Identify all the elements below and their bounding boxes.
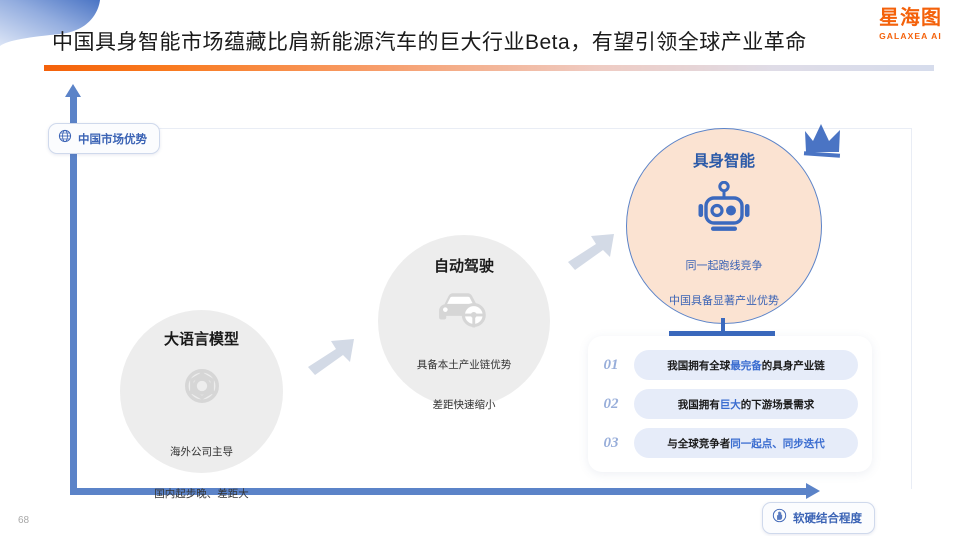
point-pill[interactable]: 与全球竞争者 同一起点、同步迭代 [634,428,858,458]
point-text-post: 的具身产业链 [762,358,825,373]
point-text-pre: 我国拥有 [678,397,720,412]
page-number: 68 [18,515,29,526]
list-item[interactable]: 01 我国拥有全球 最完备 的具身产业链 [588,346,872,384]
y-axis-arrowhead-icon [65,84,81,97]
point-text-highlight: 最完备 [730,358,762,373]
openai-logo-icon [175,359,229,418]
bubble-large-language-model[interactable]: 大语言模型 海外公司主导 国内起步晚、差距大 [120,310,283,473]
car-steering-icon [432,286,496,333]
slide-canvas: 中国具身智能市场蕴藏比肩新能源汽车的巨大行业Beta，有望引领全球产业革命 星海… [0,0,956,536]
title-underline-rule [44,65,934,71]
point-text-pre: 我国拥有全球 [667,358,730,373]
logo-chinese-text: 星海图 [879,8,942,28]
logo-english-text: GALAXEA AI [879,32,942,41]
point-pill[interactable]: 我国拥有 巨大 的下游场景需求 [634,389,858,419]
bubble-title: 自动驾驶 [434,255,494,276]
bubble-subtext-line-2: 中国具备显著产业优势 [669,293,779,310]
bubble-subtext-line-2: 国内起步晚、差距大 [154,486,249,502]
point-number: 01 [588,357,634,374]
point-pill[interactable]: 我国拥有全球 最完备 的具身产业链 [634,350,858,380]
y-axis-label-text: 中国市场优势 [78,131,147,147]
hand-gear-icon [772,508,787,528]
flow-arrow-2-icon [566,229,622,278]
x-axis-label-chip: 软硬结合程度 [762,502,875,534]
point-text-highlight: 同一起点、同步迭代 [730,436,825,451]
flow-arrow-1-icon [306,334,362,383]
x-axis-label-text: 软硬结合程度 [793,510,862,526]
x-axis-arrowhead-icon [806,483,820,499]
point-text-highlight: 巨大 [720,397,741,412]
list-item[interactable]: 02 我国拥有 巨大 的下游场景需求 [588,385,872,423]
key-points-card: 01 我国拥有全球 最完备 的具身产业链 02 我国拥有 巨大 的下游场景需求 … [588,336,872,472]
point-number: 03 [588,435,634,452]
point-text-pre: 与全球竞争者 [667,436,730,451]
bubble-subtext-line-1: 海外公司主导 [170,444,233,460]
list-item[interactable]: 03 与全球竞争者 同一起点、同步迭代 [588,424,872,462]
bubble-subtext-line-1: 同一起跑线竞争 [686,258,763,275]
y-axis-label-chip: 中国市场优势 [48,123,160,154]
bubble-embodied-intelligence[interactable]: 具身智能 同一起跑线竞争 中国具备显著产业优势 [626,128,822,324]
bubble-subtext-line-1: 具备本土产业链优势 [417,357,512,373]
bubble-title: 大语言模型 [164,328,239,349]
page-title: 中国具身智能市场蕴藏比肩新能源汽车的巨大行业Beta，有望引领全球产业革命 [52,26,807,56]
bubble-autonomous-driving[interactable]: 自动驾驶 具备本土产业链优势 差距快速缩小 [378,235,550,407]
bubble-title: 具身智能 [693,149,755,171]
point-text-post: 的下游场景需求 [741,397,815,412]
bubble-subtext-line-2: 差距快速缩小 [433,397,496,413]
crown-icon [800,119,856,170]
brand-logo: 星海图 GALAXEA AI [879,8,942,41]
robot-icon [694,181,754,240]
point-number: 02 [588,396,634,413]
globe-icon [58,129,72,148]
